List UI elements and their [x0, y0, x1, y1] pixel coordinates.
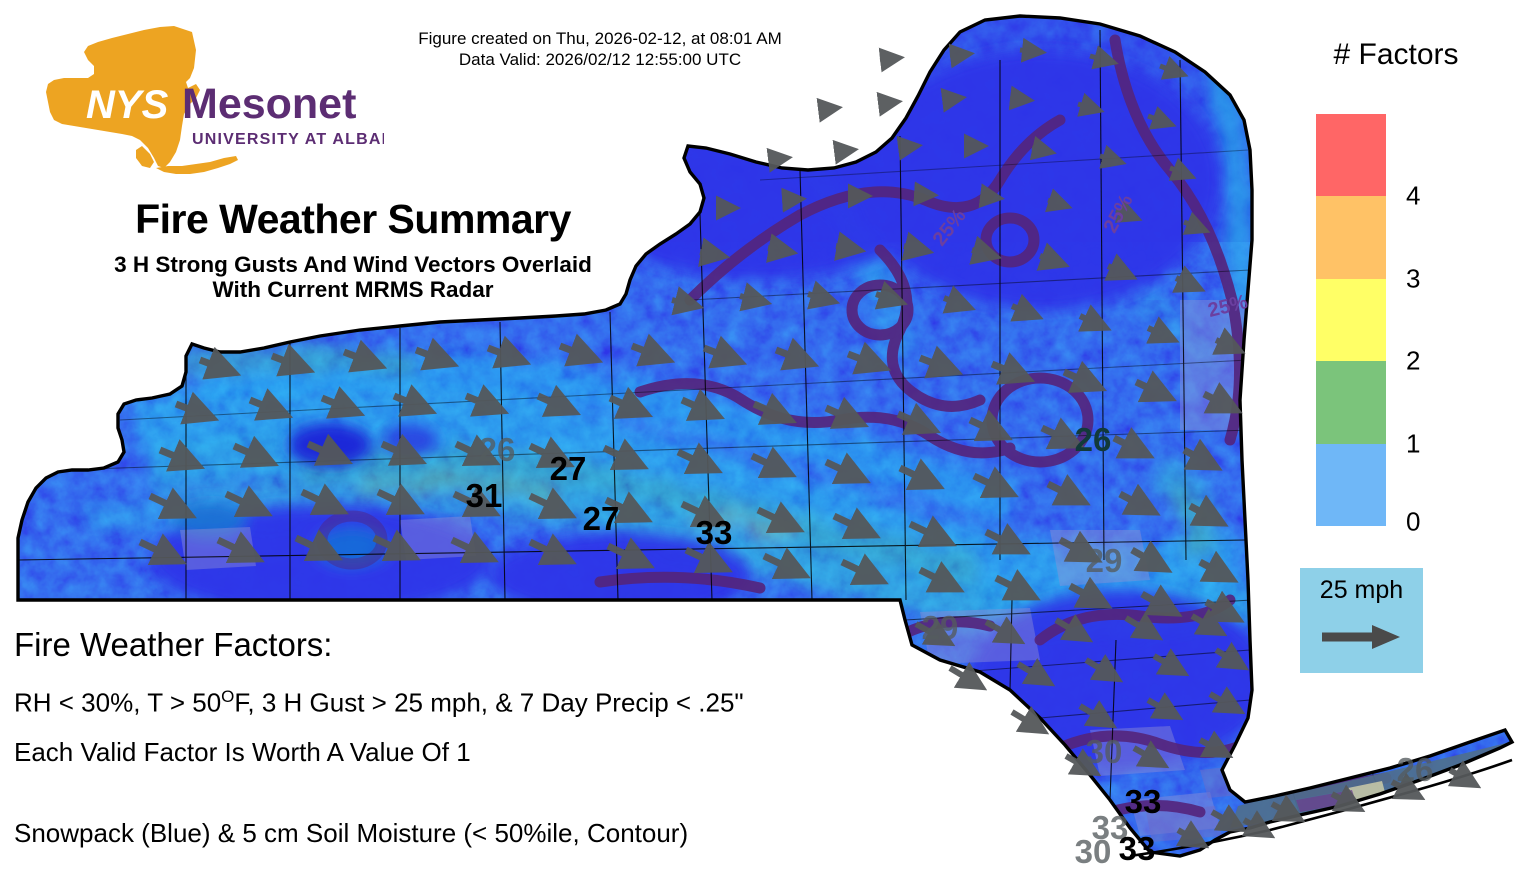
figure-timestamp-block: Figure created on Thu, 2026-02-12, at 08… [360, 28, 840, 70]
colorbar-band-3 [1316, 196, 1386, 278]
gust-label: 27 [550, 450, 587, 488]
colorbar-band-1 [1316, 361, 1386, 443]
gust-label: 33 [696, 514, 733, 552]
fire-weather-factors-heading: Fire Weather Factors: [14, 626, 332, 664]
gust-label: 26 [1397, 751, 1434, 789]
gust-label: 27 [583, 500, 620, 538]
gust-label: 29 [1086, 542, 1123, 580]
gust-label: 30 [1075, 833, 1112, 871]
colorbar-title: # Factors [1296, 38, 1496, 72]
logo-mesonet-text: Mesonet [182, 80, 356, 128]
page-subtitle-line1: 3 H Strong Gusts And Wind Vectors Overla… [28, 252, 678, 277]
colorbar-tick-1: 1 [1406, 428, 1420, 459]
colorbar-tick-0: 0 [1406, 507, 1420, 538]
colorbar-band-2 [1316, 279, 1386, 361]
gust-label: 26 [479, 431, 516, 469]
colorbar-tick-3: 3 [1406, 263, 1420, 294]
figure-canvas: 26 27 31 27 33 26 29 29 30 33 33 33 30 2… [0, 0, 1536, 876]
gust-label: 29 [922, 609, 959, 647]
nys-mesonet-logo: NYS Mesonet UNIVERSITY AT ALBANY [24, 22, 384, 182]
page-title: Fire Weather Summary [28, 196, 678, 243]
wind-scale-legend: 25 mph [1300, 568, 1423, 673]
gust-label: 26 [1075, 421, 1112, 459]
wind-scale-arrow-icon [1320, 622, 1404, 657]
factor-value-line: Each Valid Factor Is Worth A Value Of 1 [14, 737, 471, 768]
logo-nys-text: NYS [86, 83, 169, 127]
gust-label: 33 [1125, 783, 1162, 821]
page-subtitle: 3 H Strong Gusts And Wind Vectors Overla… [28, 252, 678, 302]
figure-created-line: Figure created on Thu, 2026-02-12, at 08… [360, 28, 840, 49]
data-valid-line: Data Valid: 2026/02/12 12:55:00 UTC [360, 49, 840, 70]
colorbar-ticks: 4 3 2 1 0 [1396, 114, 1456, 526]
colorbar-tick-2: 2 [1406, 346, 1420, 377]
page-subtitle-line2: With Current MRMS Radar [28, 277, 678, 302]
snowpack-soil-line: Snowpack (Blue) & 5 cm Soil Moisture (< … [14, 818, 688, 849]
gust-label: 31 [466, 477, 503, 515]
degree-symbol: O [221, 687, 234, 706]
criteria-part-b: F, 3 H Gust > 25 mph, & 7 Day Precip < .… [234, 688, 743, 718]
wind-scale-label: 25 mph [1300, 576, 1423, 605]
factors-criteria-line: RH < 30%, T > 50OF, 3 H Gust > 25 mph, &… [14, 687, 744, 719]
gust-label: 30 [1086, 733, 1123, 771]
colorbar-tick-4: 4 [1406, 181, 1420, 212]
criteria-part-a: RH < 30%, T > 50 [14, 688, 221, 718]
colorbar-band-0 [1316, 444, 1386, 526]
colorbar-band-4 [1316, 114, 1386, 196]
gust-label: 33 [1119, 830, 1156, 868]
factors-colorbar [1316, 114, 1386, 526]
logo-university-text: UNIVERSITY AT ALBANY [192, 131, 384, 148]
